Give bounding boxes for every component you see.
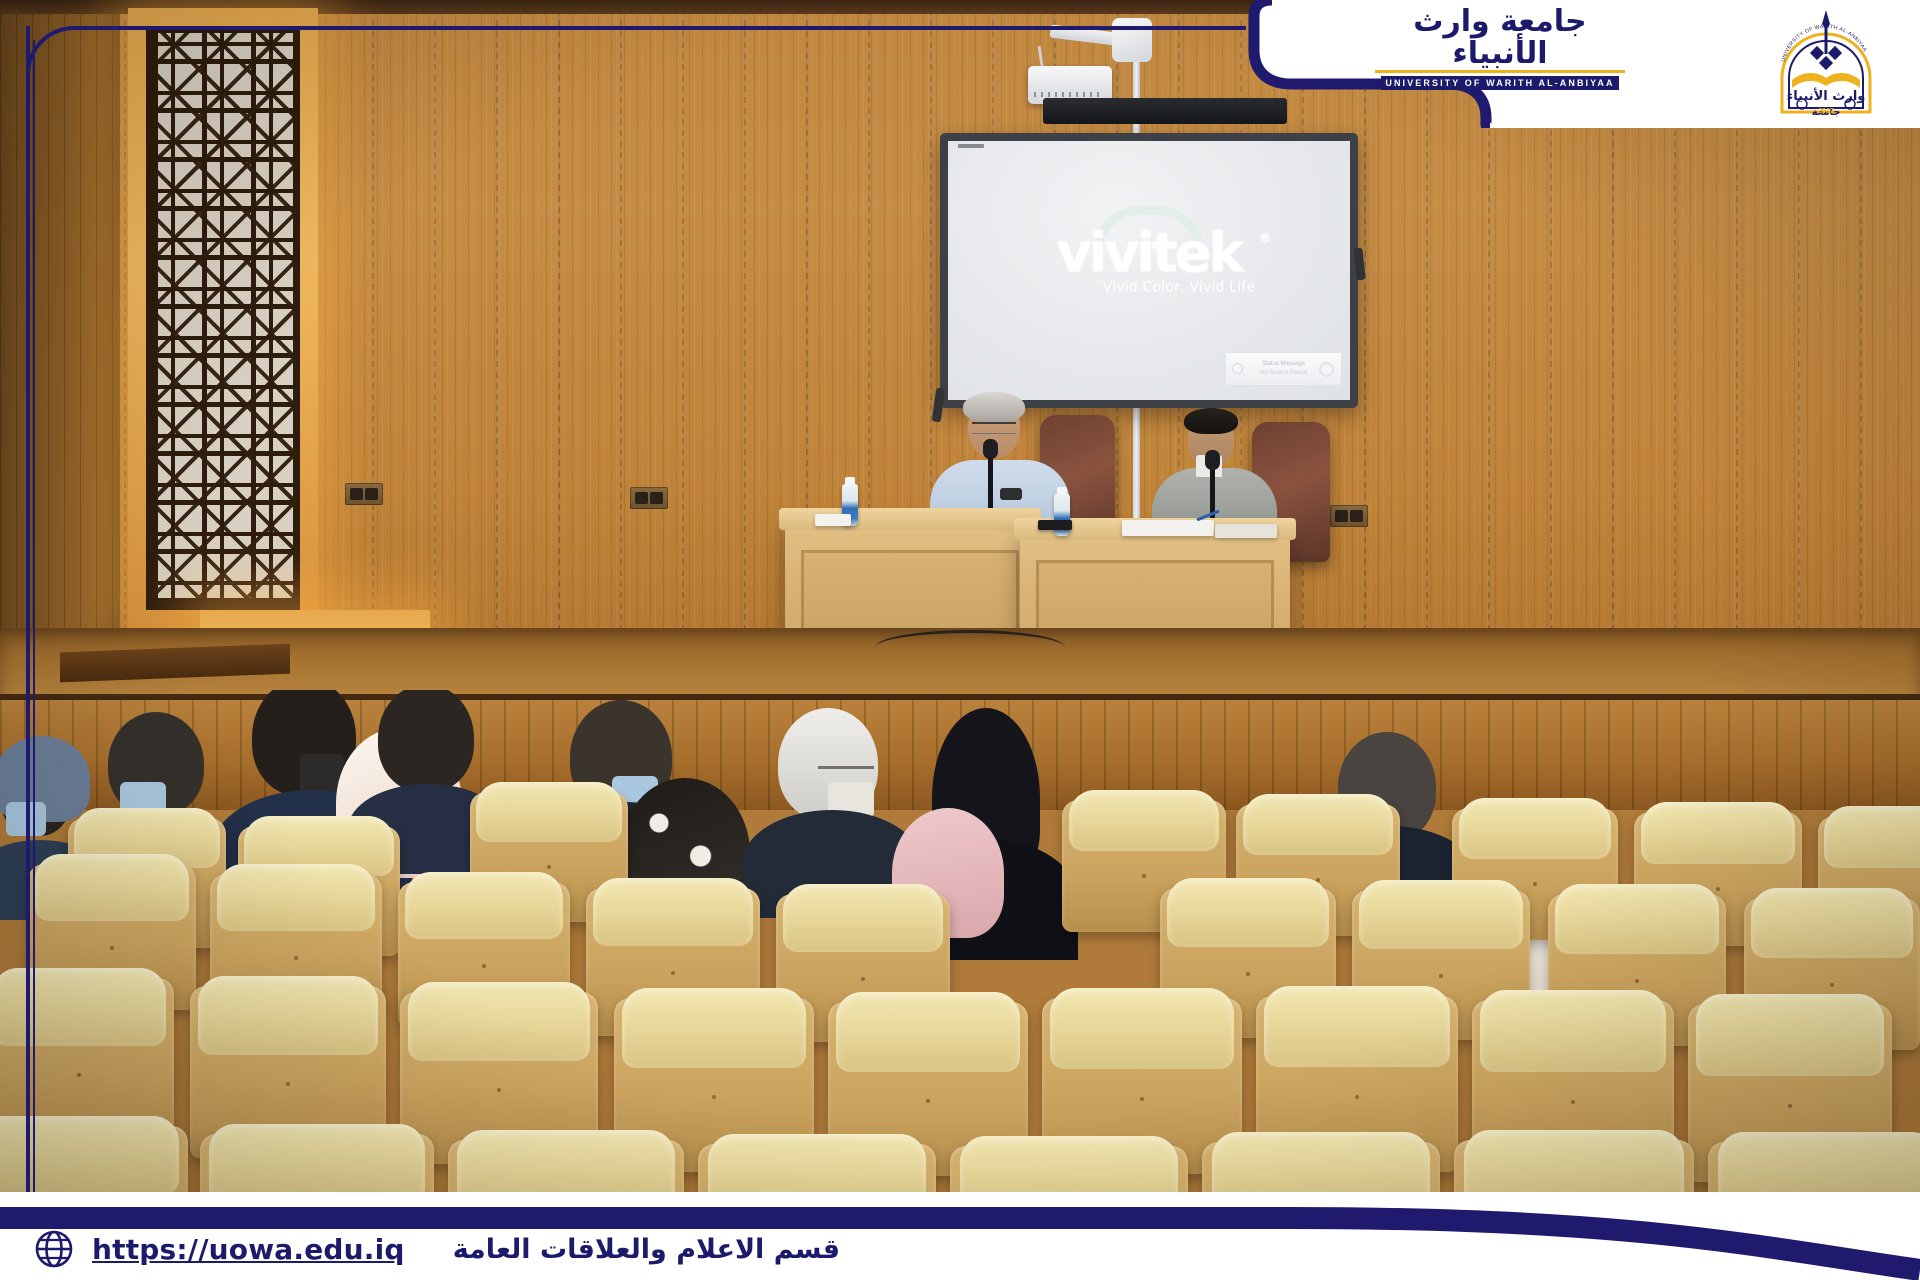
lattice-grid-inner [153,33,293,603]
speaker-left-eyeglasses [972,422,1016,434]
university-wordmark: جامعة وارث الأنبياء UNIVERSITY OF WARITH… [1375,6,1625,91]
screenshot-canvas: vivitek® Vivid Color, Vivid Life Status … [0,0,1920,1280]
department-name: قسم الاعلام والعلاقات العامة [453,1234,840,1265]
projector-mount-head [1112,18,1152,62]
speaker-left-wristwatch [1000,488,1022,500]
globe-icon [34,1229,74,1269]
attendee-5-head [378,690,474,792]
attendee-1-face-mask [6,802,46,836]
website-url-link[interactable]: https://uowa.edu.iq [92,1233,405,1266]
university-wordmark-english: UNIVERSITY OF WARITH AL-ANBIYAA [1381,76,1618,90]
status-message: No Source Found [1260,369,1307,378]
wall-socket-left [345,483,383,505]
vivitek-wordmark: vivitek® [1043,229,1256,278]
soundbar [1043,98,1287,124]
interactive-whiteboard: vivitek® Vivid Color, Vivid Life Status … [940,133,1358,408]
mashrabiya-lattice [146,26,300,610]
attendee-8-eyeglasses [818,766,874,781]
event-photograph: vivitek® Vivid Color, Vivid Life Status … [0,0,1920,1280]
wall-socket-center [630,487,668,509]
mobile-phone [1038,520,1072,530]
projection-screen: vivitek® Vivid Color, Vivid Life Status … [948,141,1350,400]
status-title: Status Message [1262,360,1305,369]
status-spinner-icon [1319,362,1334,377]
footer-bar: https://uowa.edu.iq قسم الاعلام والعلاقا… [0,1192,1920,1280]
emblem-year: 2017 [1818,108,1834,115]
mashrabiya-panel [128,8,318,628]
speaker-left-hair [963,392,1025,422]
registered-mark: ® [1258,233,1268,245]
university-emblem: UNIVERSITY OF WARITH AL-ANBIYAA وارث الأ… [1772,8,1880,124]
board-brand-tag [958,144,984,148]
vivitek-wordmark-text: vivitek [1057,221,1242,284]
wall-socket-right [1330,505,1368,527]
status-source-icon [1232,363,1243,374]
university-wordmark-arabic: جامعة وارث الأنبياء [1375,6,1625,69]
speaker-right-hair [1184,408,1238,434]
status-message-box: Status Message No Source Found [1225,352,1342,386]
auditorium-side-wall [0,0,120,700]
documents-right [1215,524,1277,538]
documents-center [1122,520,1214,536]
vivitek-logo: vivitek® Vivid Color, Vivid Life [1043,229,1256,296]
tissue-left [815,514,851,526]
